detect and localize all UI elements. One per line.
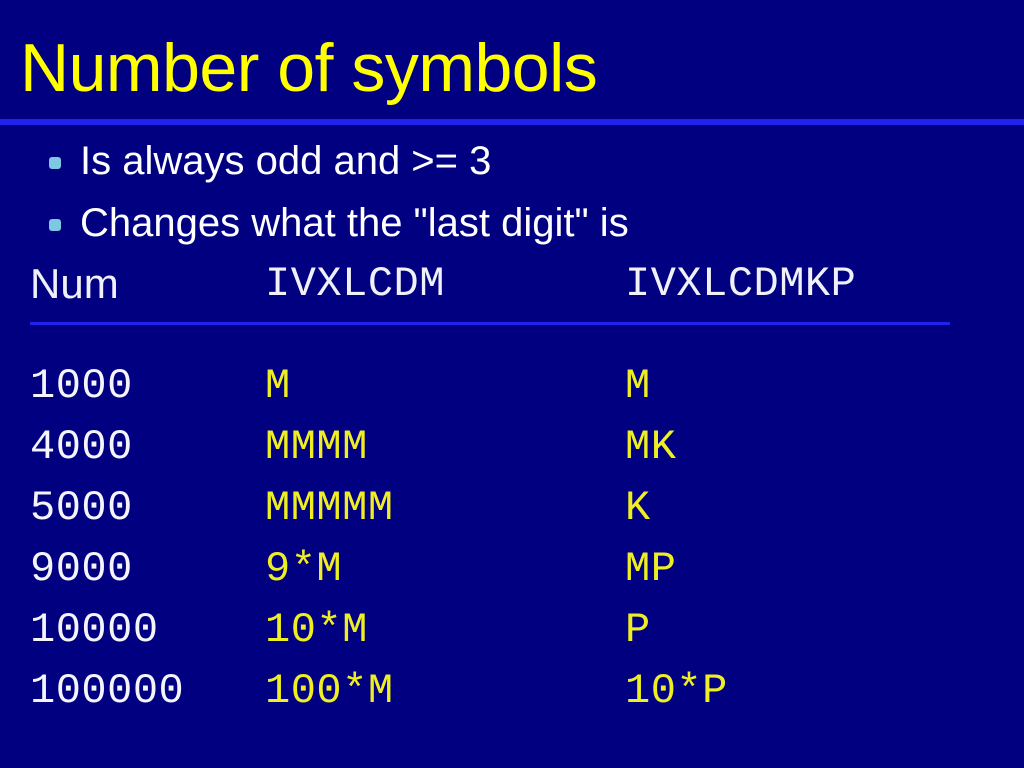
symbols-table: Num IVXLCDM IVXLCDMKP <box>0 258 1024 308</box>
cell-extended: P <box>625 604 651 656</box>
cell-extended: MP <box>625 543 676 595</box>
cell-extended: K <box>625 482 651 534</box>
bullet-dot-icon <box>49 219 61 231</box>
cell-num: 10000 <box>30 604 159 656</box>
title-divider <box>0 119 1024 125</box>
column-header-classic: IVXLCDM <box>265 258 445 310</box>
table-header-row: Num IVXLCDM IVXLCDMKP <box>0 258 1024 308</box>
slide: Number of symbols Is always odd and >= 3… <box>0 0 1024 768</box>
table-row: 10000 10*M P <box>0 604 1024 665</box>
cell-num: 9000 <box>30 543 133 595</box>
cell-classic: 9*M <box>265 543 342 595</box>
column-header-num: Num <box>30 258 119 310</box>
table-row: 100000 100*M 10*P <box>0 665 1024 726</box>
table-body: 1000 M M 4000 MMMM MK 5000 MMMMM K 9000 … <box>0 360 1024 726</box>
cell-extended: MK <box>625 421 676 473</box>
table-row: 9000 9*M MP <box>0 543 1024 604</box>
cell-classic: M <box>265 360 291 412</box>
cell-num: 100000 <box>30 665 184 717</box>
cell-extended: 10*P <box>625 665 728 717</box>
table-row: 5000 MMMMM K <box>0 482 1024 543</box>
cell-classic: 10*M <box>265 604 368 656</box>
list-item: Is always odd and >= 3 <box>30 132 990 194</box>
cell-num: 4000 <box>30 421 133 473</box>
list-item-label: Is always odd and >= 3 <box>80 132 491 190</box>
cell-num: 1000 <box>30 360 133 412</box>
cell-classic: MMMMM <box>265 482 394 534</box>
cell-extended: M <box>625 360 651 412</box>
bullet-dot-icon <box>49 157 61 169</box>
list-item-label: Changes what the "last digit" is <box>80 194 629 252</box>
list-item: Changes what the "last digit" is <box>30 194 990 256</box>
table-row: 1000 M M <box>0 360 1024 421</box>
bullet-list: Is always odd and >= 3 Changes what the … <box>30 132 990 256</box>
page-title: Number of symbols <box>20 28 597 108</box>
table-header-divider <box>30 322 950 325</box>
table-row: 4000 MMMM MK <box>0 421 1024 482</box>
cell-classic: MMMM <box>265 421 368 473</box>
column-header-extended: IVXLCDMKP <box>625 258 856 310</box>
cell-num: 5000 <box>30 482 133 534</box>
cell-classic: 100*M <box>265 665 394 717</box>
